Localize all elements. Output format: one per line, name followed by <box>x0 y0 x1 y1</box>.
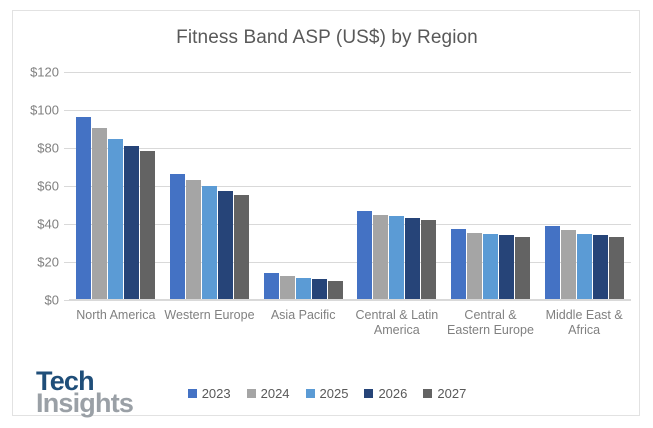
y-axis-tick-mark <box>64 300 69 301</box>
legend-label: 2026 <box>378 386 407 401</box>
logo-text-insights: Insights <box>36 391 166 416</box>
chart-container: Fitness Band ASP (US$) by Region $120$10… <box>12 10 640 416</box>
legend-label: 2023 <box>202 386 231 401</box>
y-axis-tick-label: $80 <box>13 141 59 156</box>
bar-group <box>537 72 631 300</box>
bar-group <box>444 72 538 300</box>
legend-item[interactable]: 2026 <box>364 386 407 401</box>
x-axis-category-label: Central & Eastern Europe <box>444 308 538 338</box>
legend-swatch-icon <box>364 389 373 398</box>
y-axis-tick-label: $100 <box>13 103 59 118</box>
bar[interactable] <box>483 234 498 300</box>
bar-group <box>69 72 163 300</box>
legend-swatch-icon <box>247 389 256 398</box>
legend-label: 2025 <box>320 386 349 401</box>
legend-item[interactable]: 2027 <box>423 386 466 401</box>
bar-group <box>256 72 350 300</box>
y-axis-tick-label: $60 <box>13 179 59 194</box>
bar[interactable] <box>108 139 123 301</box>
bar[interactable] <box>328 281 343 300</box>
bar[interactable] <box>593 235 608 300</box>
bar[interactable] <box>124 146 139 300</box>
chart-title: Fitness Band ASP (US$) by Region <box>13 27 641 49</box>
bar[interactable] <box>515 237 530 300</box>
legend-label: 2024 <box>261 386 290 401</box>
bar[interactable] <box>389 216 404 300</box>
bar[interactable] <box>561 230 576 300</box>
legend-item[interactable]: 2023 <box>188 386 231 401</box>
x-axis-category-label: Central & Latin America <box>350 308 444 338</box>
bar[interactable] <box>499 235 514 300</box>
bar[interactable] <box>357 211 372 300</box>
bar[interactable] <box>234 195 249 300</box>
bar[interactable] <box>312 279 327 300</box>
x-axis-category-label: Western Europe <box>163 308 257 323</box>
bar[interactable] <box>373 215 388 301</box>
legend-swatch-icon <box>306 389 315 398</box>
bar[interactable] <box>92 128 107 300</box>
y-axis-tick-label: $40 <box>13 217 59 232</box>
bar[interactable] <box>76 117 91 300</box>
bar[interactable] <box>467 233 482 300</box>
bar[interactable] <box>202 186 217 300</box>
x-axis-baseline <box>69 299 631 300</box>
bar[interactable] <box>264 273 279 300</box>
bar[interactable] <box>218 191 233 300</box>
bar-group <box>350 72 444 300</box>
gridline <box>69 300 631 301</box>
legend-swatch-icon <box>423 389 432 398</box>
bar[interactable] <box>451 229 466 300</box>
bar[interactable] <box>421 220 436 300</box>
x-axis-category-label: North America <box>69 308 163 323</box>
bar[interactable] <box>280 276 295 300</box>
bar[interactable] <box>405 218 420 300</box>
y-axis-tick-label: $120 <box>13 65 59 80</box>
bar[interactable] <box>186 180 201 300</box>
plot-area <box>69 72 631 300</box>
x-axis-category-label: Middle East & Africa <box>537 308 631 338</box>
x-axis-category-label: Asia Pacific <box>256 308 350 323</box>
brand-logo: Tech Insights <box>36 369 166 416</box>
y-axis-tick-label: $20 <box>13 255 59 270</box>
bar[interactable] <box>296 278 311 300</box>
bar[interactable] <box>609 237 624 300</box>
legend-item[interactable]: 2025 <box>306 386 349 401</box>
bar-group <box>163 72 257 300</box>
bar[interactable] <box>545 226 560 300</box>
bar[interactable] <box>140 151 155 300</box>
legend-swatch-icon <box>188 389 197 398</box>
bar[interactable] <box>170 174 185 300</box>
y-axis-tick-label: $0 <box>13 293 59 308</box>
legend-label: 2027 <box>437 386 466 401</box>
legend-item[interactable]: 2024 <box>247 386 290 401</box>
bar[interactable] <box>577 234 592 301</box>
